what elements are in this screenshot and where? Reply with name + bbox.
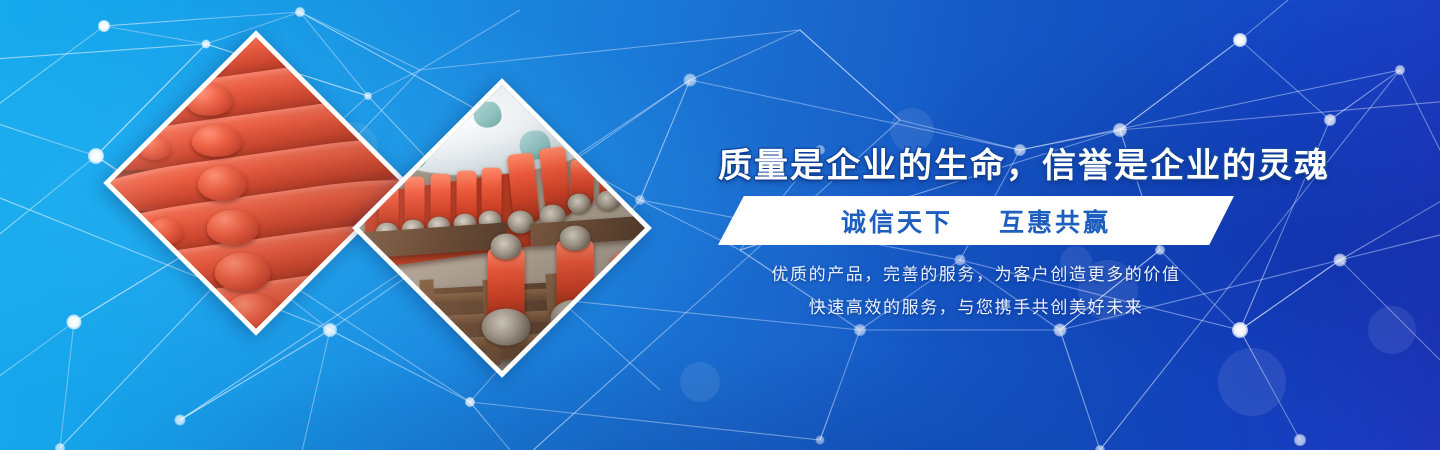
banner-sublines: 优质的产品，完善的服务，为客户创造更多的价值 快速高效的服务，与您携手共创美好未… <box>718 258 1234 324</box>
slogan-left: 诚信天下 <box>841 209 953 237</box>
slogan-ribbon-text: 诚信天下 互惠共赢 <box>841 203 1111 239</box>
subline-1: 优质的产品，完善的服务，为客户创造更多的价值 <box>718 258 1234 291</box>
slogan-ribbon: 诚信天下 互惠共赢 <box>718 196 1234 245</box>
slogan-right: 互惠共赢 <box>999 209 1111 237</box>
promo-banner: 质量是企业的生命，信誉是企业的灵魂 诚信天下 互惠共赢 优质的产品，完善的服务，… <box>0 0 1440 450</box>
subline-2: 快速高效的服务，与您携手共创美好未来 <box>718 291 1234 324</box>
banner-headline: 质量是企业的生命，信誉是企业的灵魂 <box>718 138 1248 187</box>
